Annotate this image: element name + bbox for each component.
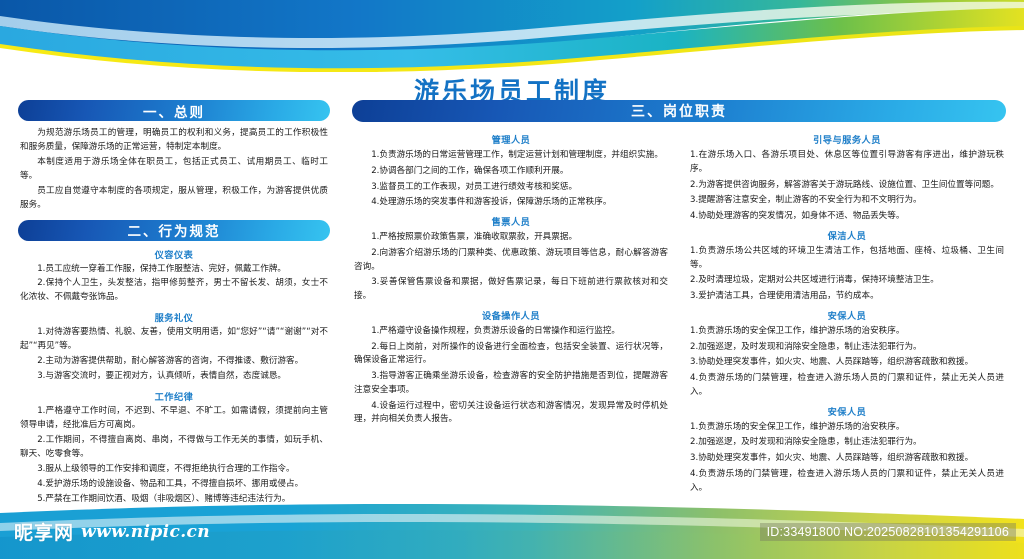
duty-group-management: 管理人员 1.负责游乐场的日常运营管理工作，制定运营计划和管理制度，并组织实施。…	[352, 132, 670, 210]
rule-item: 2.主动为游客提供帮助，耐心解答游客的咨询，不得推诿、敷衍游客。	[20, 355, 328, 369]
paragraph: 本制度适用于游乐场全体在职员工，包括正式员工、试用期员工、临时工等。	[20, 156, 328, 184]
duty-group-equipment-operator: 设备操作人员 1.严格遵守设备操作规程，负责游乐设备的日常操作和运行监控。 2.…	[352, 308, 670, 427]
duty-column-a: 管理人员 1.负责游乐场的日常运营管理工作，制定运营计划和管理制度，并组织实施。…	[352, 128, 670, 497]
duty-item: 1.负责游乐场公共区域的环境卫生清洁工作，包括地面、座椅、垃圾桶、卫生间等。	[690, 245, 1004, 273]
watermark: 昵享网 www.nipic.cn	[14, 518, 210, 545]
duty-group-ticketing: 售票人员 1.严格按照票价政策售票，准确收取票款，开具票据。 2.向游客介绍游乐…	[352, 214, 670, 304]
duty-item: 4.设备运行过程中，密切关注设备运行状态和游客情况，发现异常及时停机处理，并向相…	[354, 400, 668, 428]
section-general-rules: 一、总则 为规范游乐场员工的管理，明确员工的权利和义务，提高员工的工作积极性和服…	[18, 100, 330, 213]
conduct-group-work-discipline: 工作纪律 1.严格遵守工作时间，不迟到、不早退、不旷工。如需请假，须提前向主管领…	[18, 389, 330, 506]
duty-role-heading: 管理人员	[352, 132, 670, 146]
rule-item: 1.严格遵守工作时间，不迟到、不早退、不旷工。如需请假，须提前向主管领导申请，经…	[20, 405, 328, 433]
duty-item: 2.每日上岗前，对所操作的设备进行全面检查，包括安全装置、运行状况等，确保设备正…	[354, 341, 668, 369]
content-area: 一、总则 为规范游乐场员工的管理，明确员工的权利和义务，提高员工的工作积极性和服…	[0, 100, 1024, 500]
duty-column-b: 引导与服务人员 1.在游乐场入口、各游乐项目处、休息区等位置引导游客有序进出，维…	[688, 128, 1006, 497]
duty-item: 3.协助处理突发事件，如火灾、地震、人员踩踏等，组织游客疏散和救援。	[690, 356, 1004, 370]
duty-role-heading: 引导与服务人员	[688, 132, 1006, 146]
duty-item: 2.为游客提供咨询服务，解答游客关于游玩路线、设施位置、卫生间位置等问题。	[690, 179, 1004, 193]
duty-role-heading: 安保人员	[688, 404, 1006, 418]
duty-item: 3.协助处理突发事件，如火灾、地震、人员踩踏等，组织游客疏散和救援。	[690, 452, 1004, 466]
duty-role-heading: 保洁人员	[688, 228, 1006, 242]
general-rules-paragraphs: 为规范游乐场员工的管理，明确员工的权利和义务，提高员工的工作积极性和服务质量，保…	[18, 127, 330, 213]
image-id-tag: ID:33491800 NO:20250828101354291106	[760, 523, 1016, 541]
left-column: 一、总则 为规范游乐场员工的管理，明确员工的权利和义务，提高员工的工作积极性和服…	[18, 100, 330, 500]
conduct-group-appearance: 仪容仪表 1.员工应统一穿着工作服，保持工作服整洁、完好，佩戴工作牌。 2.保持…	[18, 247, 330, 306]
duty-group-cleaning: 保洁人员 1.负责游乐场公共区域的环境卫生清洁工作，包括地面、座椅、垃圾桶、卫生…	[688, 228, 1006, 304]
poster-canvas: 游乐场员工制度 一、总则 为规范游乐场员工的管理，明确员工的权利和义务，提高员工…	[0, 0, 1024, 559]
duty-item: 2.协调各部门之间的工作，确保各项工作顺利开展。	[354, 165, 668, 179]
duty-role-heading: 设备操作人员	[352, 308, 670, 322]
duty-item: 1.负责游乐场的安全保卫工作，维护游乐场的治安秩序。	[690, 325, 1004, 339]
section-heading-job-duties: 三、岗位职责	[352, 100, 1006, 122]
duty-item: 2.加强巡逻，及时发现和消除安全隐患，制止违法犯罪行为。	[690, 436, 1004, 450]
rule-item: 2.工作期间，不得擅自离岗、串岗，不得做与工作无关的事情，如玩手机、聊天、吃零食…	[20, 434, 328, 462]
site-url: www.nipic.cn	[81, 522, 210, 542]
duty-item: 1.负责游乐场的日常运营管理工作，制定运营计划和管理制度，并组织实施。	[354, 149, 668, 163]
duty-role-heading: 售票人员	[352, 214, 670, 228]
duty-item: 1.负责游乐场的安全保卫工作，维护游乐场的治安秩序。	[690, 421, 1004, 435]
duty-group-security-1: 安保人员 1.负责游乐场的安全保卫工作，维护游乐场的治安秩序。 2.加强巡逻，及…	[688, 308, 1006, 400]
rule-item: 2.保持个人卫生，头发整洁，指甲修剪整齐，男士不留长发、胡须，女士不化浓妆、不佩…	[20, 277, 328, 305]
duty-group-security-2: 安保人员 1.负责游乐场的安全保卫工作，维护游乐场的治安秩序。 2.加强巡逻，及…	[688, 404, 1006, 496]
duty-item: 3.爱护清洁工具，合理使用清洁用品，节约成本。	[690, 290, 1004, 304]
duty-item: 4.协助处理游客的突发情况，如身体不适、物品丢失等。	[690, 210, 1004, 224]
duty-item: 4.负责游乐场的门禁管理，检查进入游乐场人员的门票和证件，禁止无关人员进入。	[690, 468, 1004, 496]
top-wave-banner	[0, 0, 1024, 72]
paragraph: 为规范游乐场员工的管理，明确员工的权利和义务，提高员工的工作积极性和服务质量，保…	[20, 127, 328, 155]
duty-item: 3.妥善保管售票设备和票据，做好售票记录，每日下班前进行票款核对和交接。	[354, 276, 668, 304]
duty-item: 3.提醒游客注意安全，制止游客的不安全行为和不文明行为。	[690, 194, 1004, 208]
duty-item: 3.指导游客正确乘坐游乐设备，检查游客的安全防护措施是否到位，提醒游客注意安全事…	[354, 370, 668, 398]
duty-item: 1.严格遵守设备操作规程，负责游乐设备的日常操作和运行监控。	[354, 325, 668, 339]
duty-item: 1.在游乐场入口、各游乐项目处、休息区等位置引导游客有序进出，维护游玩秩序。	[690, 149, 1004, 177]
section-code-of-conduct: 二、行为规范 仪容仪表 1.员工应统一穿着工作服，保持工作服整洁、完好，佩戴工作…	[18, 220, 330, 507]
duty-item: 2.向游客介绍游乐场的门票种类、优惠政策、游玩项目等信息，耐心解答游客咨询。	[354, 247, 668, 275]
right-column: 三、岗位职责 管理人员 1.负责游乐场的日常运营管理工作，制定运营计划和管理制度…	[352, 100, 1006, 500]
duty-item: 3.监督员工的工作表现，对员工进行绩效考核和奖惩。	[354, 181, 668, 195]
rule-item: 3.服从上级领导的工作安排和调度，不得拒绝执行合理的工作指令。	[20, 463, 328, 477]
rule-item: 3.与游客交流时，要正视对方，认真倾听，表情自然，态度诚恳。	[20, 370, 328, 384]
duty-item: 1.严格按照票价政策售票，准确收取票款，开具票据。	[354, 231, 668, 245]
section-heading-general-rules: 一、总则	[18, 100, 330, 121]
duty-item: 2.加强巡逻，及时发现和消除安全隐患，制止违法犯罪行为。	[690, 341, 1004, 355]
section-heading-code-of-conduct: 二、行为规范	[18, 220, 330, 241]
duty-item: 4.处理游乐场的突发事件和游客投诉，保障游乐场的正常秩序。	[354, 196, 668, 210]
subsection-heading: 仪容仪表	[18, 247, 330, 261]
duty-role-heading: 安保人员	[688, 308, 1006, 322]
duty-item: 4.负责游乐场的门禁管理，检查进入游乐场人员的门票和证件，禁止无关人员进入。	[690, 372, 1004, 400]
duty-group-guide-service: 引导与服务人员 1.在游乐场入口、各游乐项目处、休息区等位置引导游客有序进出，维…	[688, 132, 1006, 224]
subsection-heading: 服务礼仪	[18, 310, 330, 324]
duty-columns: 管理人员 1.负责游乐场的日常运营管理工作，制定运营计划和管理制度，并组织实施。…	[352, 128, 1006, 497]
duty-item: 2.及时清理垃圾，定期对公共区域进行消毒，保持环境整洁卫生。	[690, 274, 1004, 288]
rule-item: 1.对待游客要热情、礼貌、友善，使用文明用语，如“您好”“请”“谢谢”“对不起”…	[20, 326, 328, 354]
rule-item: 1.员工应统一穿着工作服，保持工作服整洁、完好，佩戴工作牌。	[20, 263, 328, 277]
paragraph: 员工应自觉遵守本制度的各项规定，服从管理，积极工作，为游客提供优质服务。	[20, 185, 328, 213]
subsection-heading: 工作纪律	[18, 389, 330, 403]
site-logo: 昵享网	[14, 518, 74, 545]
rule-item: 4.爱护游乐场的设施设备、物品和工具，不得擅自损坏、挪用或侵占。	[20, 478, 328, 492]
conduct-group-service-etiquette: 服务礼仪 1.对待游客要热情、礼貌、友善，使用文明用语，如“您好”“请”“谢谢”…	[18, 310, 330, 384]
